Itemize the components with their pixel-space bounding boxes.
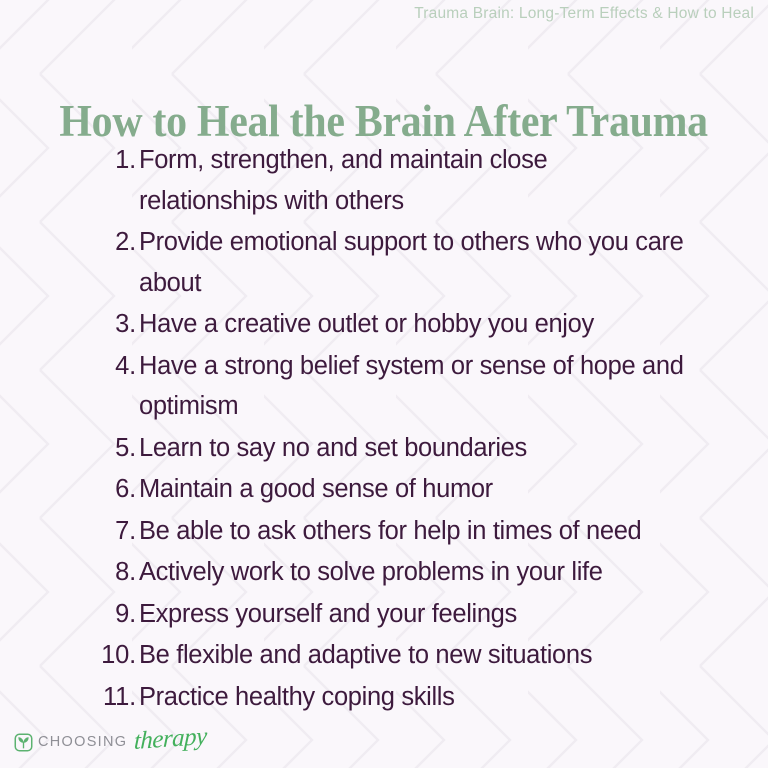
list-item-text: Have a creative outlet or hobby you enjo… (139, 304, 684, 345)
list-item: 3.Have a creative outlet or hobby you en… (84, 304, 684, 345)
list-item-text: Provide emotional support to others who … (139, 222, 684, 303)
list-item-text: Maintain a good sense of humor (139, 469, 684, 510)
list-item: 7.Be able to ask others for help in time… (84, 511, 684, 552)
list-item-number: 11. (84, 677, 139, 718)
list-item-number: 4. (84, 346, 139, 387)
list-item: 11.Practice healthy coping skills (84, 677, 684, 718)
list-item-text: Learn to say no and set boundaries (139, 428, 684, 469)
logo-word-choosing: Choosing (38, 734, 127, 750)
steps-list: 1.Form, strengthen, and maintain close r… (84, 140, 684, 718)
list-item-number: 1. (84, 140, 139, 181)
list-item-text: Actively work to solve problems in your … (139, 552, 684, 593)
list-item-number: 10. (84, 635, 139, 676)
list-item-number: 3. (84, 304, 139, 345)
list-item-number: 2. (84, 222, 139, 263)
page-title: How to Heal the Brain After Trauma (60, 98, 708, 145)
steps-list-container: 1.Form, strengthen, and maintain close r… (0, 140, 768, 718)
list-item-text: Have a strong belief system or sense of … (139, 346, 684, 427)
list-item-number: 6. (84, 469, 139, 510)
header-article-title: Trauma Brain: Long-Term Effects & How to… (414, 5, 754, 23)
list-item-number: 8. (84, 552, 139, 593)
list-item: 10.Be flexible and adaptive to new situa… (84, 635, 684, 676)
list-item: 4.Have a strong belief system or sense o… (84, 346, 684, 427)
list-item: 6.Maintain a good sense of humor (84, 469, 684, 510)
list-item: 2.Provide emotional support to others wh… (84, 222, 684, 303)
logo-word-therapy: therapy (134, 723, 208, 756)
list-item: 5.Learn to say no and set boundaries (84, 428, 684, 469)
list-item-text: Practice healthy coping skills (139, 677, 684, 718)
list-item-text: Form, strengthen, and maintain close rel… (139, 140, 684, 221)
infographic-poster: Trauma Brain: Long-Term Effects & How to… (0, 0, 768, 768)
list-item-text: Express yourself and your feelings (139, 594, 684, 635)
list-item: 9.Express yourself and your feelings (84, 594, 684, 635)
list-item-text: Be flexible and adaptive to new situatio… (139, 635, 684, 676)
leaf-plant-in-rounded-square-icon (14, 733, 33, 752)
header-bar: Trauma Brain: Long-Term Effects & How to… (0, 0, 768, 28)
list-item: 1.Form, strengthen, and maintain close r… (84, 140, 684, 221)
list-item-number: 5. (84, 428, 139, 469)
list-item-text: Be able to ask others for help in times … (139, 511, 684, 552)
list-item: 8.Actively work to solve problems in you… (84, 552, 684, 593)
list-item-number: 9. (84, 594, 139, 635)
list-item-number: 7. (84, 511, 139, 552)
brand-logo[interactable]: Choosing therapy (14, 728, 207, 756)
